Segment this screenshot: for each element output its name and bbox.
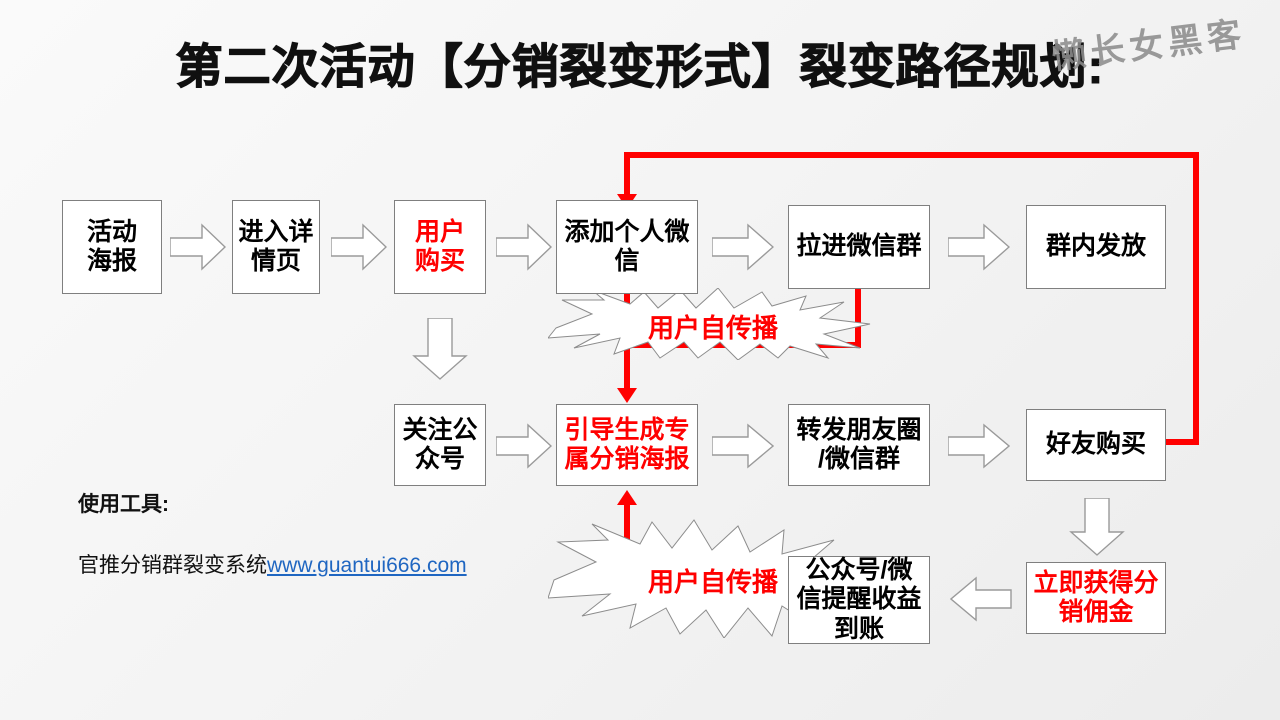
arrow-purchase-to-add-wechat [496, 222, 552, 272]
flow-box-income-notice-label: 公众号/微信提醒收益到账 [796, 556, 921, 645]
arrow-detail-to-purchase [331, 222, 387, 272]
tools-website-link[interactable]: www.guantui666.com [267, 554, 467, 577]
arrow-follow-oa-to-generate-poster [496, 422, 552, 470]
flow-box-share-moments-label: 转发朋友圈/微信群 [796, 416, 921, 475]
red-loop-bottom-stub [1161, 439, 1199, 445]
arrow-pull-group-to-group-send [948, 222, 1010, 272]
tools-description: 官推分销群裂变系统www.guantui666.com [78, 549, 467, 579]
arrow-commission-to-income-notice [950, 574, 1012, 624]
flow-box-group-send-label: 群内发放 [1046, 232, 1146, 262]
flow-box-group-send[interactable]: 群内发放 [1026, 205, 1166, 289]
arrow-generate-poster-to-share [712, 422, 774, 470]
red-loop-top-horizontal [624, 152, 1199, 158]
red-arrow-into-generate-poster [617, 388, 637, 403]
flow-box-detail-page-label: 进入详情页 [238, 218, 313, 277]
flow-box-pull-group-label: 拉进微信群 [796, 232, 921, 262]
flow-box-income-notice[interactable]: 公众号/微信提醒收益到账 [788, 556, 930, 644]
flow-box-add-wechat-label: 添加个人微信 [564, 218, 689, 277]
flow-box-generate-poster-label: 引导生成专属分销海报 [564, 416, 689, 475]
flow-box-pull-group[interactable]: 拉进微信群 [788, 205, 930, 289]
flow-box-friend-purchase[interactable]: 好友购买 [1026, 409, 1166, 481]
red-loop-right-vertical [1193, 152, 1199, 445]
slide-canvas: 第二次活动【分销裂变形式】裂变路径规划: 懒长女黑客 用户自传播 用户自传播 活… [0, 0, 1280, 720]
arrow-share-to-friend-purchase [948, 422, 1010, 470]
arrow-add-wechat-to-pull-group [712, 222, 774, 272]
flow-box-friend-purchase-label: 好友购买 [1046, 430, 1146, 460]
burst-top-label: 用户自传播 [548, 308, 878, 345]
tools-description-text: 官推分销群裂变系统 [78, 554, 267, 577]
tools-heading: 使用工具: [78, 488, 169, 518]
flow-box-poster[interactable]: 活动海报 [62, 200, 162, 294]
red-loop-left-vertical [624, 152, 630, 200]
arrow-poster-to-detail [170, 222, 226, 272]
flow-box-follow-oa[interactable]: 关注公众号 [394, 404, 486, 486]
flow-box-share-moments[interactable]: 转发朋友圈/微信群 [788, 404, 930, 486]
flow-box-add-wechat[interactable]: 添加个人微信 [556, 200, 698, 294]
flow-box-generate-poster[interactable]: 引导生成专属分销海报 [556, 404, 698, 486]
arrow-purchase-to-follow-oa [411, 318, 469, 380]
flow-box-follow-oa-label: 关注公众号 [402, 416, 477, 475]
arrow-friend-purchase-to-commission [1068, 498, 1126, 556]
flow-box-get-commission[interactable]: 立即获得分销佣金 [1026, 562, 1166, 634]
red-arrow-up-into-generate-poster [617, 490, 637, 505]
flow-box-user-purchase-label: 用户购买 [415, 218, 465, 277]
flow-box-get-commission-label: 立即获得分销佣金 [1033, 569, 1158, 628]
flow-box-poster-label: 活动海报 [87, 218, 137, 277]
flow-box-detail-page[interactable]: 进入详情页 [232, 200, 320, 294]
flow-box-user-purchase[interactable]: 用户购买 [394, 200, 486, 294]
